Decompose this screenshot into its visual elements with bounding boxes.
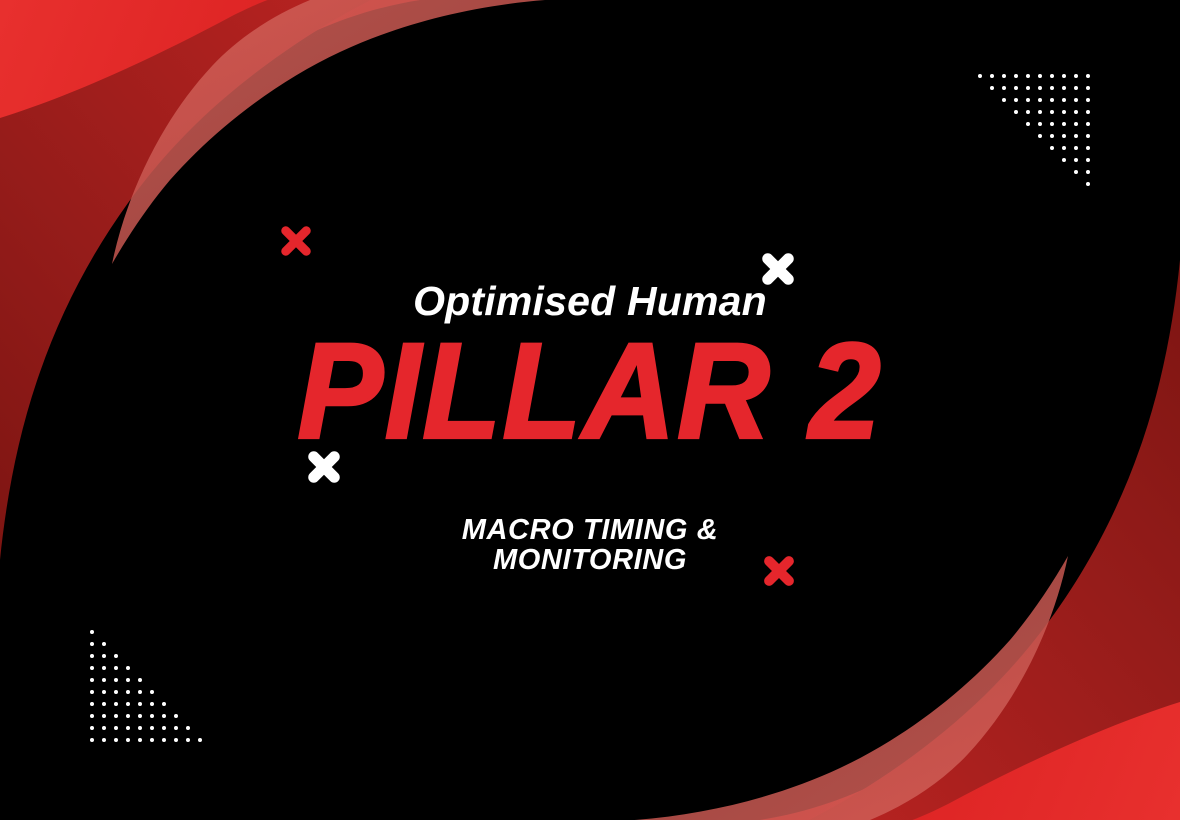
title-block: Optimised Human PILLAR 2 MACRO TIMING & … [0,0,1180,820]
x-mark-white-mid-left [324,447,364,487]
x-mark-red-upper-left [296,222,334,260]
x-mark-red-lower-right [779,552,817,590]
subtitle-text: MACRO TIMING & MONITORING [380,516,800,576]
poster-canvas: Optimised Human PILLAR 2 MACRO TIMING & … [0,0,1180,820]
page-title: PILLAR 2 [298,324,883,460]
x-mark-white-upper-right [778,249,818,289]
